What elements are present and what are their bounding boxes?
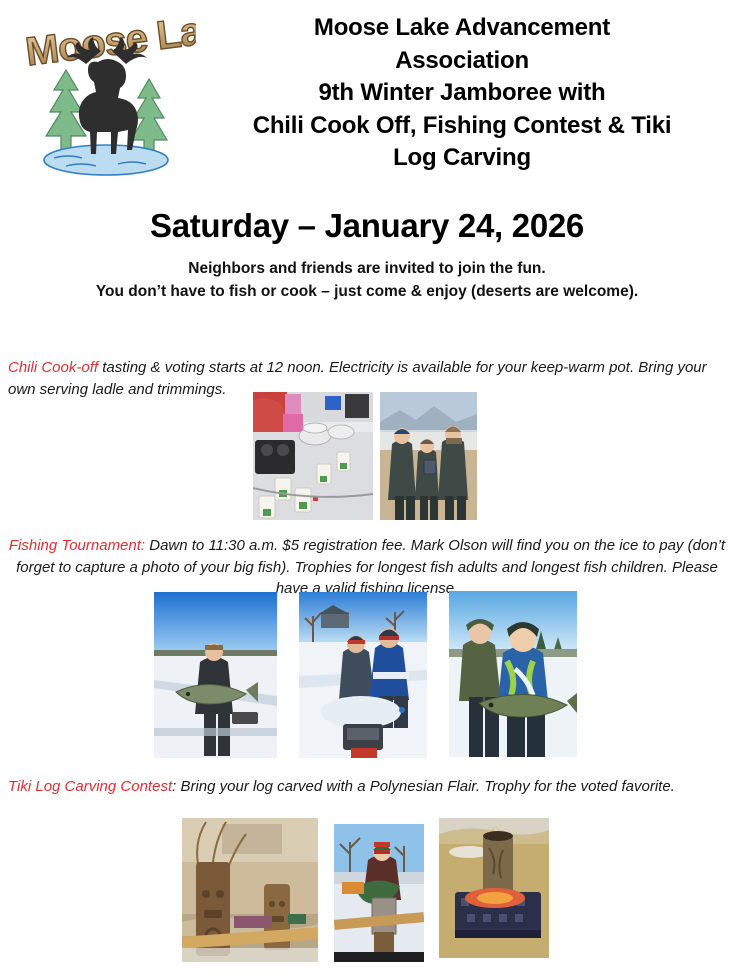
- event-date: Saturday – January 24, 2026: [0, 205, 734, 247]
- fishing-section-heading: Fishing Tournament:: [9, 537, 145, 554]
- photo-tiki-carved-logs: [182, 818, 318, 962]
- tiki-section-heading: Tiki Log Carving Contest: [8, 778, 172, 795]
- moose-lake-logo: Moose Lake: [14, 8, 196, 188]
- intro-line-1: Neighbors and friends are invited to joi…: [0, 258, 734, 281]
- intro-line-2: You don’t have to fish or cook – just co…: [0, 281, 734, 304]
- photo-chili-winners: [380, 392, 477, 520]
- photo-fishing-two-kids-with-pike: [449, 591, 577, 757]
- intro-text: Neighbors and friends are invited to joi…: [0, 258, 734, 303]
- org-title-line-4: Chili Cook Off, Fishing Contest & Tiki: [200, 110, 724, 143]
- org-title-line-3: 9th Winter Jamboree with: [200, 77, 724, 110]
- flyer-header: Moose Lake: [0, 0, 734, 196]
- logo-lake-water: [44, 145, 168, 175]
- chili-section-heading: Chili Cook-off: [8, 359, 98, 376]
- org-title-line-5: Log Carving: [200, 142, 724, 175]
- photo-fishing-teen-with-pike: [154, 592, 277, 758]
- page-title: Moose Lake Advancement Association 9th W…: [200, 12, 724, 175]
- photo-chili-pots-on-table: [253, 392, 373, 520]
- photo-tiki-burning-log: [439, 818, 549, 958]
- tiki-section-text: Tiki Log Carving Contest: Bring your log…: [8, 776, 724, 798]
- org-title-line-1: Moose Lake Advancement: [200, 12, 724, 45]
- photo-tiki-carver-with-entry: [334, 824, 424, 962]
- tiki-section-body: : Bring your log carved with a Polynesia…: [172, 778, 675, 795]
- photo-fishing-anglers-at-hole: [299, 592, 427, 758]
- org-title-line-2: Association: [200, 45, 724, 78]
- fishing-section-text: Fishing Tournament: Dawn to 11:30 a.m. $…: [6, 535, 728, 600]
